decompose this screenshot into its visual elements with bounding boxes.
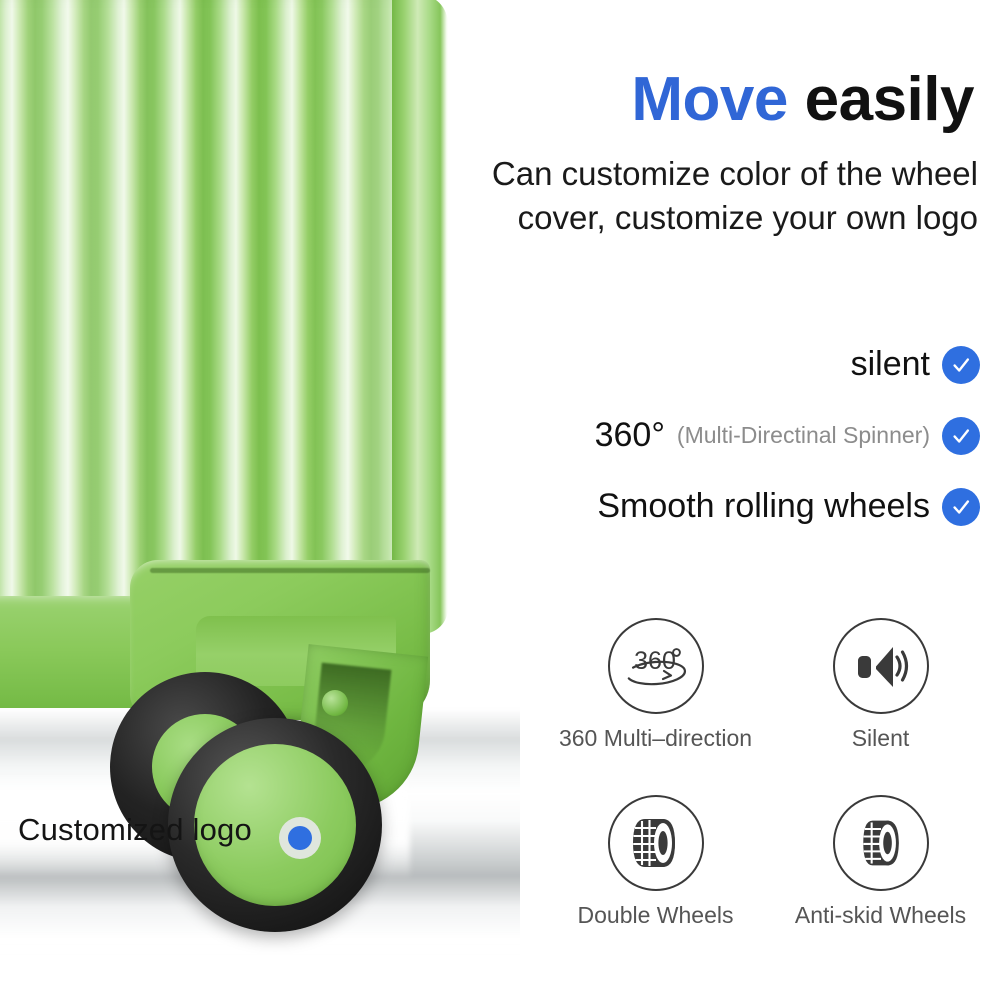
feature-label-360: 360° <box>595 416 665 455</box>
page-title: Move easily <box>631 64 974 135</box>
customized-logo-caption: Customized logo <box>18 812 252 848</box>
tire-icon <box>608 795 704 891</box>
suitcase-right-edge <box>392 0 448 634</box>
feature-check-row-smooth: Smooth rolling wheels <box>597 487 980 526</box>
subheadline-line-1: Can customize color of the wheel <box>398 152 978 196</box>
feature-label-smooth: Smooth rolling wheels <box>597 487 930 526</box>
feature-label-silent: silent <box>851 345 930 384</box>
feature-icon-cell-360: 360 360 Multi–direction <box>548 618 763 781</box>
feature-icon-label-double-wheels: Double Wheels <box>578 902 734 929</box>
feature-icon-grid: 360 360 Multi–direction Silent <box>548 618 988 958</box>
subheadline-line-2: cover, customize your own logo <box>398 196 978 240</box>
check-icon <box>942 346 980 384</box>
feature-icon-label-360: 360 Multi–direction <box>559 725 752 752</box>
feature-sublabel-360: (Multi-Directinal Spinner) <box>677 422 930 449</box>
castor-axle <box>322 690 348 716</box>
feature-icon-cell-silent: Silent <box>773 618 988 781</box>
blue-dot-logo-icon <box>288 826 312 850</box>
headline-word-black: easily <box>805 65 974 134</box>
feature-icon-label-silent: Silent <box>852 725 910 752</box>
feature-check-row-silent: silent <box>851 345 980 384</box>
suitcase-seam-line <box>150 568 430 573</box>
feature-icon-label-anti-skid: Anti-skid Wheels <box>795 902 966 929</box>
feature-icon-cell-anti-skid: Anti-skid Wheels <box>773 795 988 958</box>
suitcase-gloss-overlay <box>0 0 438 614</box>
speaker-mute-icon <box>833 618 929 714</box>
feature-icon-cell-double-wheels: Double Wheels <box>548 795 763 958</box>
feature-check-row-360: 360° (Multi-Directinal Spinner) <box>595 416 980 455</box>
check-icon <box>942 488 980 526</box>
tire-icon <box>833 795 929 891</box>
product-photo: Customized logo <box>0 0 520 1000</box>
svg-text:360: 360 <box>634 647 676 675</box>
360-rotation-icon: 360 <box>608 618 704 714</box>
product-banner: Customized logo Move easily Can customiz… <box>0 0 1000 1000</box>
headline-word-blue: Move <box>631 65 787 134</box>
check-icon <box>942 417 980 455</box>
